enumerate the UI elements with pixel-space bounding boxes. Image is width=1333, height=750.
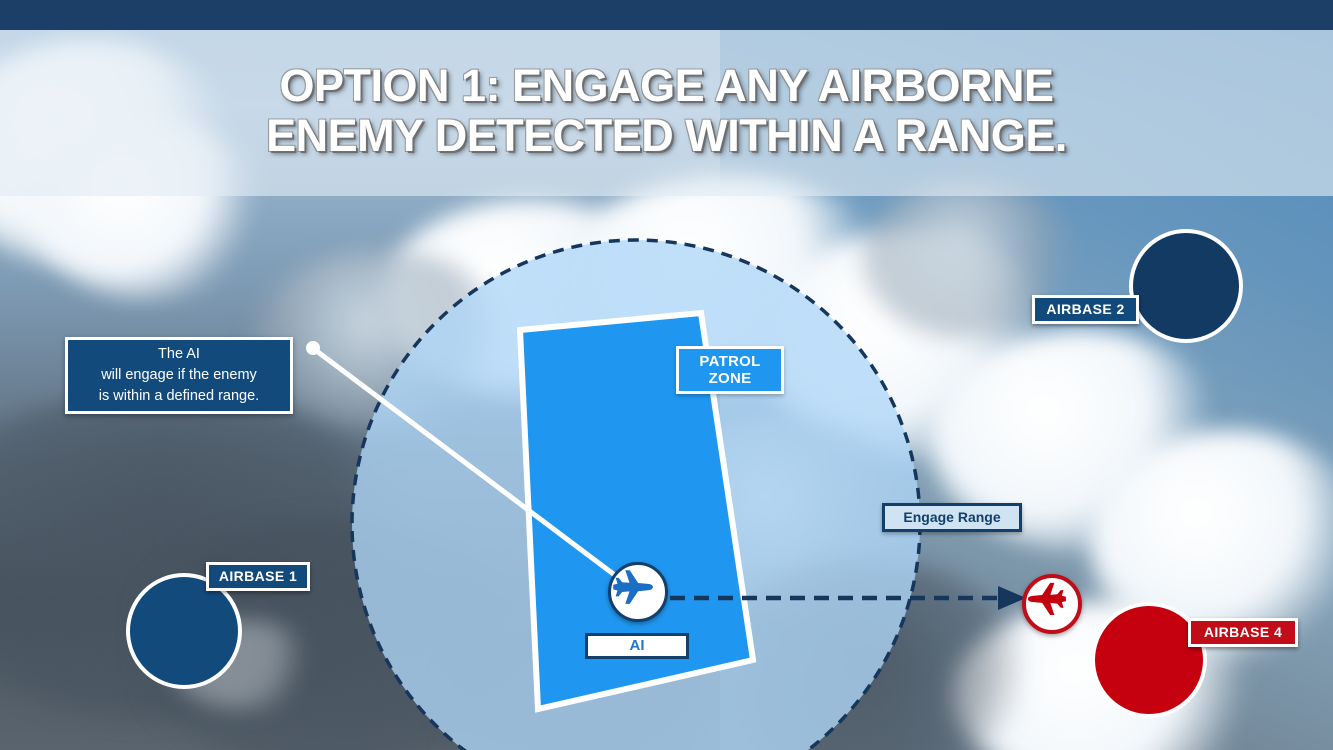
airbase-1-label[interactable]: AIRBASE 1 [206,562,310,591]
airbase-2-label[interactable]: AIRBASE 2 [1032,295,1139,324]
leader-line-dot-icon [306,341,320,355]
patrol-zone-label-line-2: ZONE [709,370,752,387]
top-bar [0,0,1333,30]
engage-range-label[interactable]: Engage Range [882,503,1022,532]
title-line-2: ENEMY DETECTED WITHIN A RANGE. [266,111,1067,161]
airbase-4-label[interactable]: AIRBASE 4 [1188,618,1298,647]
ai-label[interactable]: AI [585,633,689,659]
airbase-1-marker[interactable] [128,575,240,687]
callout-line-2: will engage if the enemy [101,367,257,383]
title-line-1: OPTION 1: ENGAGE ANY AIRBORNE [280,61,1054,111]
callout-line-3: is within a defined range. [99,388,259,404]
airbase-2-marker[interactable] [1131,231,1241,341]
enemy-fighter-jet-icon [1026,578,1068,620]
page-title: OPTION 1: ENGAGE ANY AIRBORNE ENEMY DETE… [0,36,1333,186]
patrol-zone-label[interactable]: PATROL ZONE [676,346,784,394]
callout-line-1: The AI [158,346,200,362]
patrol-zone-label-line-1: PATROL [699,353,760,370]
ai-aircraft-marker[interactable] [608,562,668,622]
fighter-jet-icon [611,565,655,609]
ai-behaviour-callout: The AI will engage if the enemy is withi… [65,337,293,414]
enemy-aircraft-marker[interactable] [1022,574,1082,634]
slide-canvas: OPTION 1: ENGAGE ANY AIRBORNE ENEMY DETE… [0,0,1333,750]
